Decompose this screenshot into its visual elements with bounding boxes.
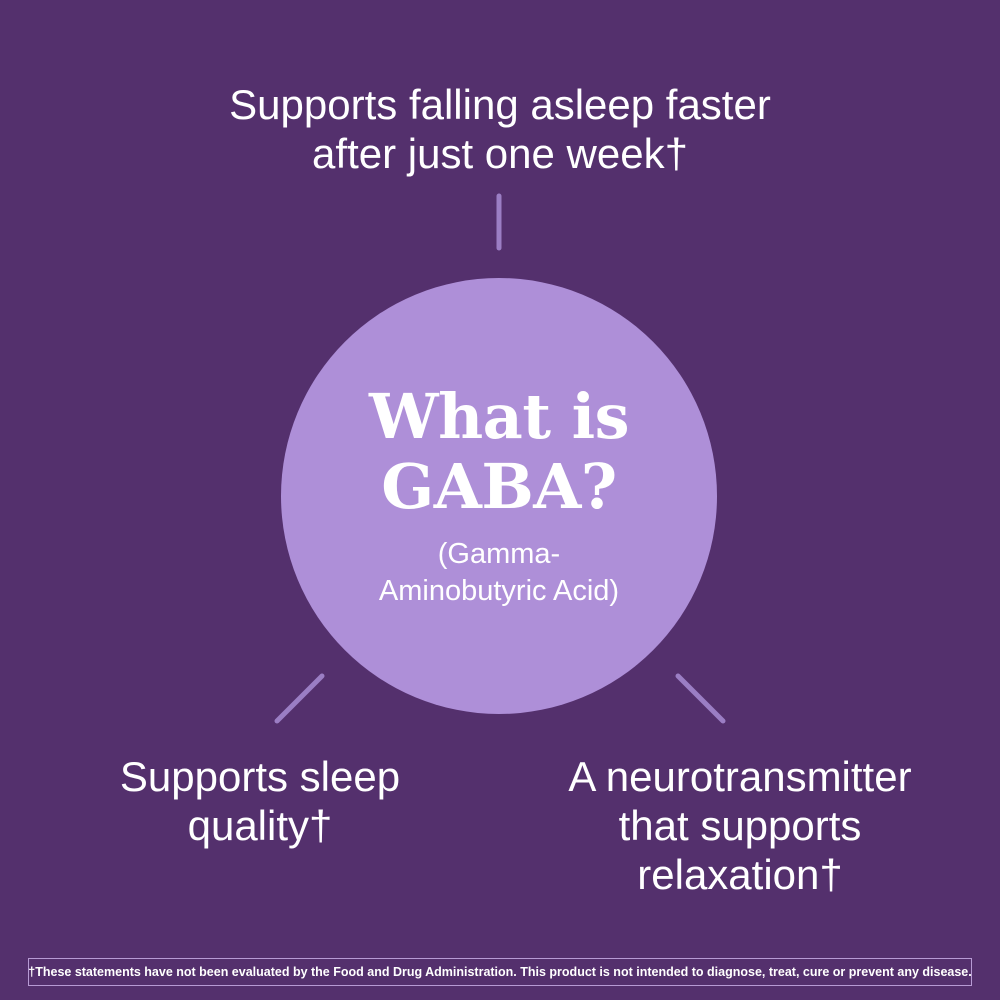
footer-disclaimer-box: †These statements have not been evaluate…: [28, 958, 972, 986]
center-circle: What is GABA? (Gamma- Aminobutyric Acid): [281, 278, 717, 714]
footer-disclaimer-text: †These statements have not been evaluate…: [28, 965, 971, 979]
callout-supports-sleep-quality: Supports sleep quality†: [30, 752, 490, 850]
callout-neurotransmitter-supports-relaxation: A neurotransmitter that supports relaxat…: [510, 752, 970, 899]
center-circle-subtitle: (Gamma- Aminobutyric Acid): [379, 536, 619, 610]
connector-bottom-right-icon: [678, 676, 723, 721]
gaba-infographic: Supports falling asleep faster after jus…: [0, 0, 1000, 1000]
center-circle-title: What is GABA?: [369, 382, 629, 522]
callout-supports-falling-asleep-faster: Supports falling asleep faster after jus…: [150, 80, 850, 178]
connector-bottom-left-icon: [277, 676, 322, 721]
